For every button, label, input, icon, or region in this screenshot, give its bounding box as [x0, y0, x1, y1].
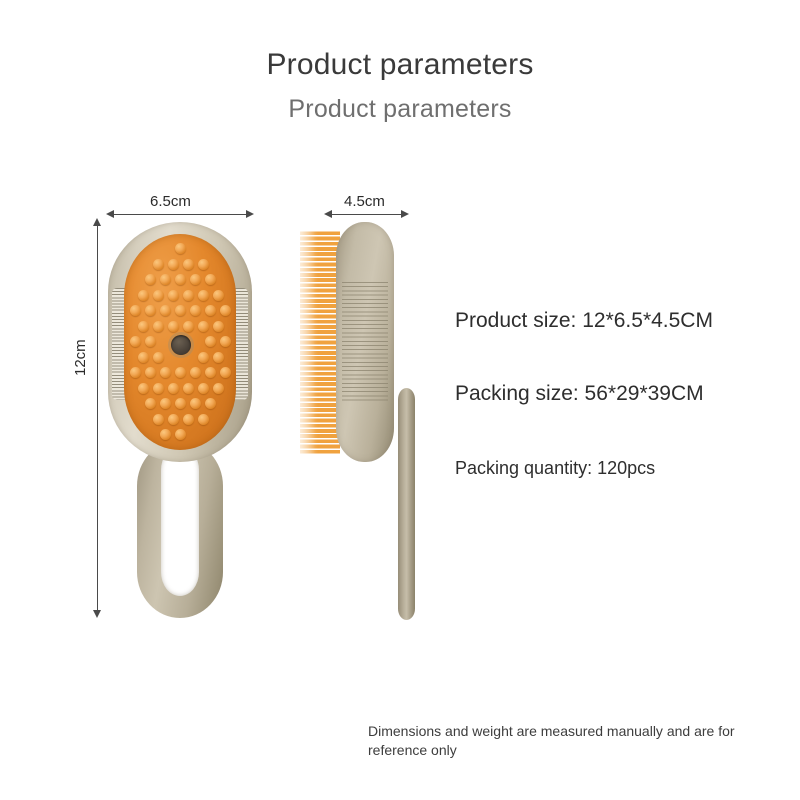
dimension-line-front-width	[112, 214, 248, 215]
massage-bump	[205, 274, 216, 285]
massage-bump	[153, 321, 164, 332]
massage-bump	[160, 367, 171, 378]
massage-bump	[213, 383, 224, 394]
massage-bump	[145, 305, 156, 316]
massage-bump	[198, 290, 209, 301]
measurement-disclaimer: Dimensions and weight are measured manua…	[368, 722, 788, 760]
product-side-view	[300, 222, 410, 462]
massage-bump	[213, 290, 224, 301]
massage-bump	[183, 321, 194, 332]
arrowhead-bottom-height	[93, 610, 101, 618]
dimension-label-front-width: 6.5cm	[150, 193, 191, 210]
massage-bump	[168, 321, 179, 332]
massage-bump	[175, 429, 186, 440]
massage-bump	[220, 336, 231, 347]
silicone-pad-front	[124, 234, 236, 450]
massage-bump	[130, 305, 141, 316]
massage-bump	[160, 274, 171, 285]
massage-bump	[153, 414, 164, 425]
massage-bump	[205, 305, 216, 316]
bristle-spikes	[300, 230, 340, 454]
massage-bump	[160, 305, 171, 316]
product-parameters-image: Product parameters Product parameters 6.…	[0, 0, 800, 800]
massage-bump	[168, 383, 179, 394]
spec-product-size: Product size: 12*6.5*4.5CM	[455, 309, 713, 333]
comb-teeth-right	[235, 288, 248, 400]
massage-bump	[130, 336, 141, 347]
massage-bump	[153, 259, 164, 270]
handle-loop-hole	[161, 446, 199, 596]
dimension-line-side-width	[331, 214, 403, 215]
massage-bump	[213, 321, 224, 332]
massage-bump	[138, 321, 149, 332]
massage-bump	[175, 398, 186, 409]
massage-bump	[205, 367, 216, 378]
massage-bump	[138, 290, 149, 301]
massage-bump	[160, 398, 171, 409]
massage-bump	[153, 383, 164, 394]
side-rib-lines	[342, 282, 388, 402]
product-front-view	[108, 222, 252, 462]
massage-bump	[168, 259, 179, 270]
massage-bump	[175, 367, 186, 378]
massage-bump	[205, 398, 216, 409]
massage-bump	[138, 383, 149, 394]
product-handle-front	[137, 440, 223, 618]
massage-bump	[130, 367, 141, 378]
massage-bump	[198, 383, 209, 394]
massage-bump	[190, 274, 201, 285]
page-subtitle: Product parameters	[0, 95, 800, 124]
massage-bump	[213, 352, 224, 363]
dimension-label-side-width: 4.5cm	[344, 193, 385, 210]
arrowhead-top-height	[93, 218, 101, 226]
massage-bump	[190, 305, 201, 316]
massage-bump	[198, 259, 209, 270]
center-nozzle-hole	[171, 335, 191, 355]
arrowhead-left-side-width	[324, 210, 332, 218]
massage-bump	[138, 352, 149, 363]
brush-shell-side	[336, 222, 394, 462]
massage-bump	[175, 305, 186, 316]
arrowhead-left-front-width	[106, 210, 114, 218]
spec-packing-size: Packing size: 56*29*39CM	[455, 382, 704, 406]
massage-bump	[145, 367, 156, 378]
massage-bump	[153, 290, 164, 301]
massage-bump	[153, 352, 164, 363]
massage-bump	[205, 336, 216, 347]
massage-bump	[190, 398, 201, 409]
massage-bump	[183, 383, 194, 394]
spec-packing-quantity: Packing quantity: 120pcs	[455, 458, 655, 479]
massage-bump	[183, 290, 194, 301]
dimension-line-height	[97, 225, 98, 613]
massage-bump	[145, 336, 156, 347]
page-title: Product parameters	[0, 48, 800, 82]
massage-bump	[183, 259, 194, 270]
massage-bump	[220, 367, 231, 378]
massage-bump	[220, 305, 231, 316]
massage-bump	[198, 352, 209, 363]
massage-bump	[145, 398, 156, 409]
massage-bump	[198, 414, 209, 425]
dimension-label-height: 12cm	[72, 339, 89, 376]
arrowhead-right-side-width	[401, 210, 409, 218]
massage-bump	[175, 243, 186, 254]
massage-bump	[168, 414, 179, 425]
arrowhead-right-front-width	[246, 210, 254, 218]
massage-bump	[145, 274, 156, 285]
massage-bump	[168, 290, 179, 301]
massage-bump	[175, 274, 186, 285]
massage-bump	[183, 414, 194, 425]
massage-bump	[160, 429, 171, 440]
massage-bump	[190, 367, 201, 378]
massage-bump	[198, 321, 209, 332]
